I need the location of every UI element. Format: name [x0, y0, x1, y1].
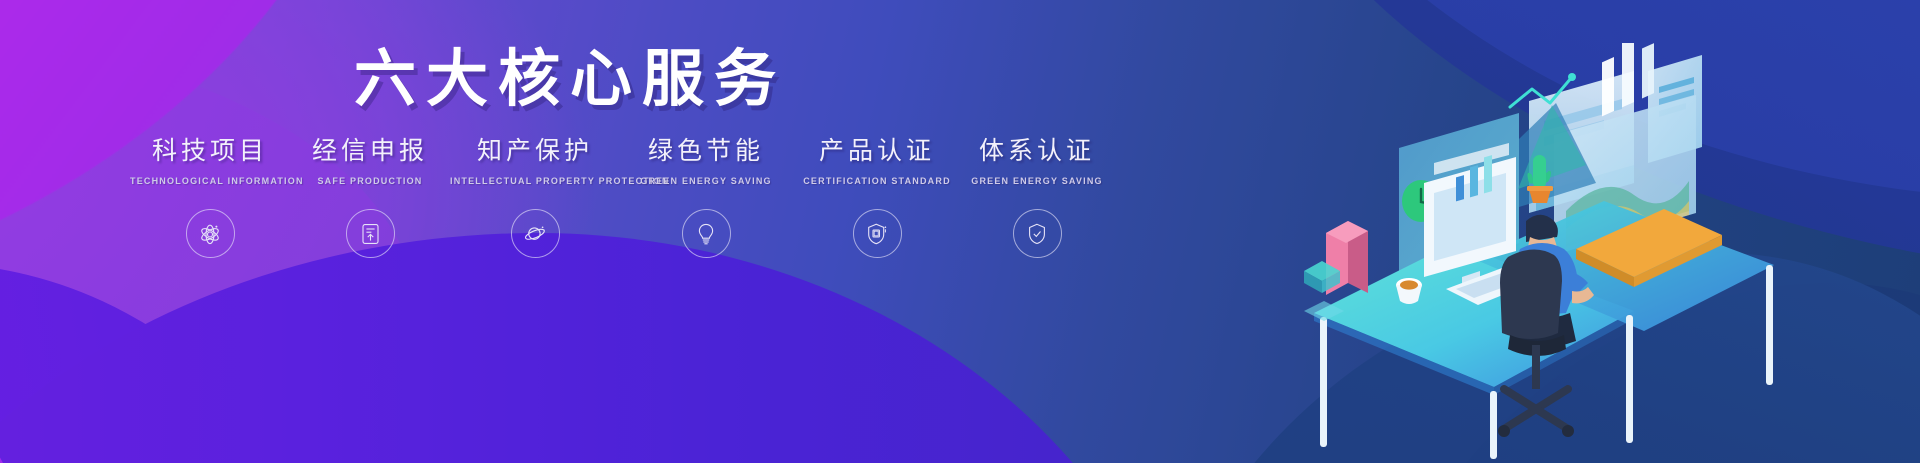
service-title-en: GREEN ENERGY SAVING: [620, 176, 792, 186]
service-title-cn: 科技项目: [130, 138, 290, 163]
hero-banner: 六大核心服务 科技项目 TECHNOLOGICAL INFORMATION 经信…: [0, 0, 1920, 463]
service-item-technological-information[interactable]: 科技项目 TECHNOLOGICAL INFORMATION: [130, 138, 290, 258]
services-list: 科技项目 TECHNOLOGICAL INFORMATION 经信申报 SAFE…: [130, 138, 1112, 258]
atom-icon[interactable]: [186, 209, 235, 258]
service-item-intellectual-property-protection[interactable]: 知产保护 INTELLECTUAL PROPERTY PROTECTION: [450, 138, 620, 258]
isometric-workspace-illustration: [1304, 43, 1824, 463]
service-title-cn: 知产保护: [450, 138, 620, 163]
shield-badge-icon[interactable]: [853, 209, 902, 258]
coffee-cup: [1396, 278, 1422, 304]
document-upload-icon[interactable]: [346, 209, 395, 258]
service-title-cn: 体系认证: [962, 138, 1112, 163]
service-title-en: TECHNOLOGICAL INFORMATION: [130, 176, 290, 186]
planet-icon[interactable]: [511, 209, 560, 258]
background-blob-magenta-bottom: [0, 283, 60, 463]
service-title-cn: 绿色节能: [620, 138, 792, 163]
service-title-en: SAFE PRODUCTION: [290, 176, 450, 186]
background-blob-bottom-left: [0, 233, 1200, 463]
service-title-cn: 产品认证: [792, 138, 962, 163]
service-title-cn: 经信申报: [290, 138, 450, 163]
lightbulb-icon[interactable]: [682, 209, 731, 258]
service-item-system-certification[interactable]: 体系认证 GREEN ENERGY SAVING: [962, 138, 1112, 258]
title-container: 六大核心服务: [0, 28, 1140, 118]
service-title-en: CERTIFICATION STANDARD: [792, 176, 962, 186]
service-item-certification-standard[interactable]: 产品认证 CERTIFICATION STANDARD: [792, 138, 962, 258]
service-title-en: GREEN ENERGY SAVING: [962, 176, 1112, 186]
service-item-green-energy-saving[interactable]: 绿色节能 GREEN ENERGY SAVING: [620, 138, 792, 258]
page-title: 六大核心服务: [354, 28, 786, 118]
service-item-safe-production[interactable]: 经信申报 SAFE PRODUCTION: [290, 138, 450, 258]
background-blob-bottom-left-b: [0, 263, 380, 463]
shield-check-icon[interactable]: [1013, 209, 1062, 258]
service-title-en: INTELLECTUAL PROPERTY PROTECTION: [450, 176, 620, 186]
